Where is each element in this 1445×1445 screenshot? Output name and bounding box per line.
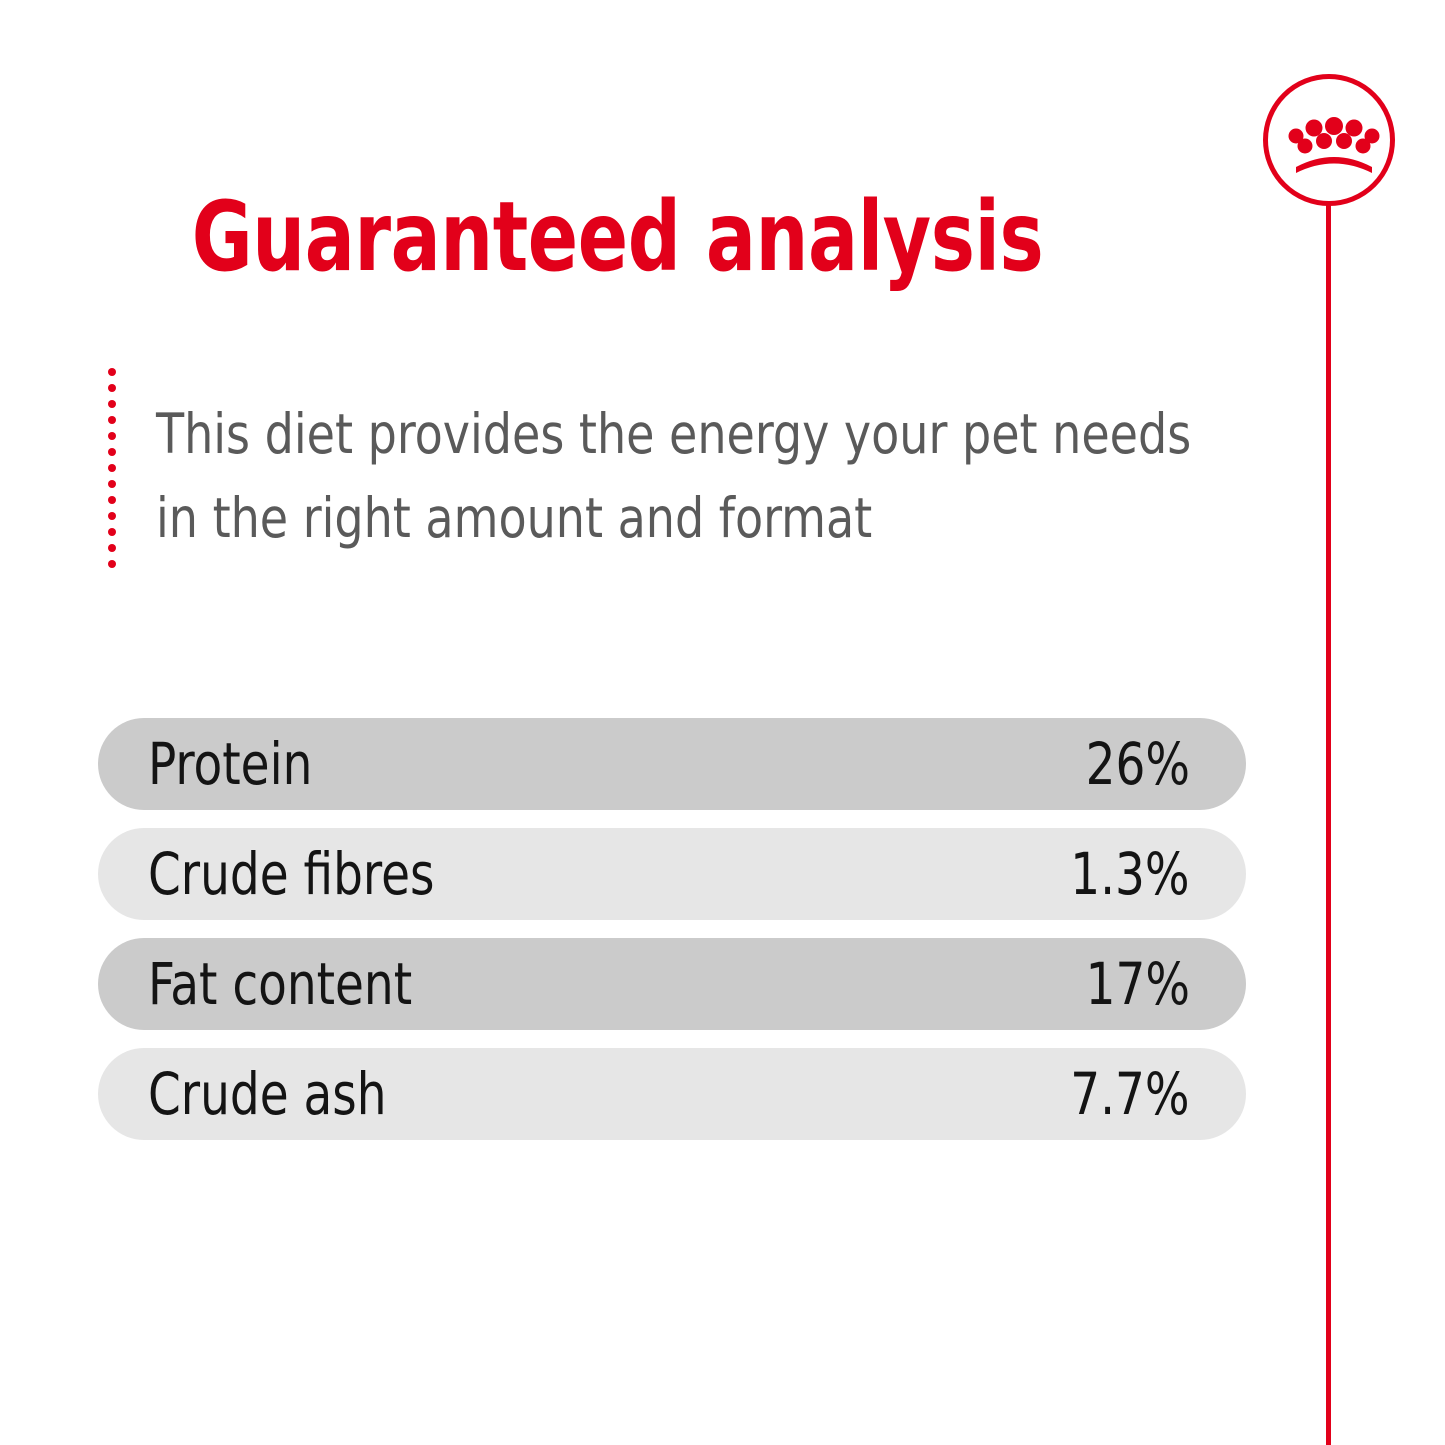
analysis-table: Protein 26% Crude fibres 1.3% Fat conten… [98, 718, 1246, 1140]
brand-circle-outline [1263, 74, 1395, 206]
accent-dot [108, 432, 116, 440]
table-row: Crude ash 7.7% [98, 1048, 1246, 1140]
row-value: 26% [1086, 733, 1190, 795]
row-value: 17% [1086, 953, 1190, 1015]
row-value: 7.7% [1071, 1063, 1190, 1125]
table-row: Protein 26% [98, 718, 1246, 810]
accent-dot [108, 368, 116, 376]
royal-canin-crown-icon [1288, 117, 1380, 173]
row-label: Protein [148, 733, 312, 795]
table-row: Fat content 17% [98, 938, 1246, 1030]
intro-line-2: in the right amount and format [156, 476, 1142, 560]
dotted-accent-rule [108, 368, 116, 564]
intro-paragraph: This diet provides the energy your pet n… [156, 392, 1142, 560]
guaranteed-analysis-page: Guaranteed analysis This diet provides t… [0, 0, 1445, 1445]
accent-dot [108, 480, 116, 488]
brand-stem-line [1326, 140, 1331, 1445]
accent-dot [108, 384, 116, 392]
accent-dot [108, 560, 116, 568]
page-title: Guaranteed analysis [86, 182, 1148, 292]
brand-mark [1263, 74, 1395, 1389]
accent-dot [108, 448, 116, 456]
accent-dot [108, 528, 116, 536]
accent-dot [108, 544, 116, 552]
row-value: 1.3% [1071, 843, 1190, 905]
row-label: Crude fibres [148, 843, 434, 905]
row-label: Crude ash [148, 1063, 387, 1125]
intro-line-1: This diet provides the energy your pet n… [156, 392, 1142, 476]
accent-dot [108, 512, 116, 520]
accent-dot [108, 464, 116, 472]
accent-dot [108, 496, 116, 504]
accent-dot [108, 416, 116, 424]
accent-dot [108, 400, 116, 408]
row-label: Fat content [148, 953, 412, 1015]
table-row: Crude fibres 1.3% [98, 828, 1246, 920]
